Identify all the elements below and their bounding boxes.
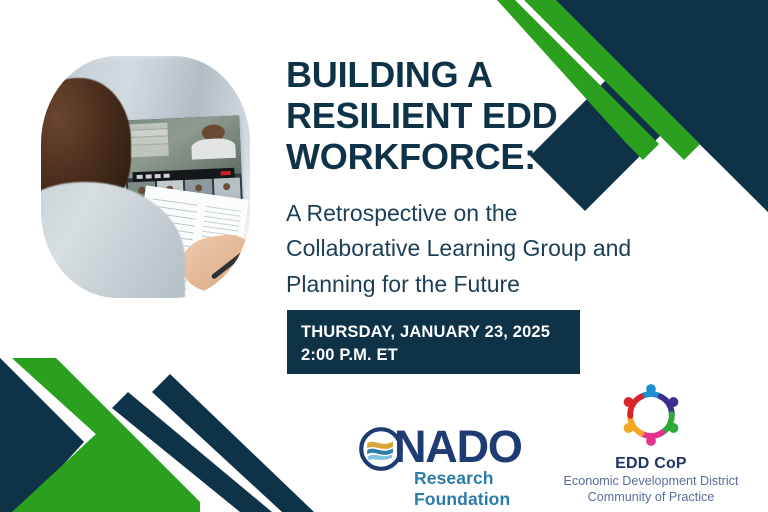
toolbar-button-icon bbox=[137, 175, 143, 179]
subtitle-line-3: Planning for the Future bbox=[286, 267, 706, 302]
toolbar-button-icon bbox=[163, 173, 169, 177]
edd-pinwheel-people-icon bbox=[609, 376, 693, 454]
edd-cop-title: EDD CoP bbox=[556, 455, 746, 473]
toolbar-button-icon bbox=[154, 174, 160, 178]
photo-scene bbox=[41, 56, 250, 298]
page-subtitle: A Retrospective on the Collaborative Lea… bbox=[286, 196, 706, 302]
nado-tagline: Research Foundation bbox=[414, 468, 558, 510]
navy-triangle-bottom-left bbox=[0, 360, 84, 512]
green-chevron-bottom-left bbox=[14, 360, 198, 512]
nado-wordmark: NADO bbox=[394, 424, 522, 469]
navy-triangle-body-bottom-left bbox=[0, 358, 84, 512]
title-line-2: RESILIENT EDD bbox=[286, 95, 706, 136]
subtitle-line-2: Collaborative Learning Group and bbox=[286, 231, 706, 266]
event-time: 2:00 P.M. ET bbox=[301, 344, 580, 367]
nado-logo: NADO Research Foundation bbox=[358, 424, 558, 492]
subtitle-line-1: A Retrospective on the bbox=[286, 196, 706, 231]
photo-bookcase bbox=[126, 122, 169, 158]
photo-speaker-torso bbox=[191, 138, 236, 160]
edd-cop-description: Economic Development District Community … bbox=[556, 474, 746, 505]
toolbar-button-icon bbox=[146, 174, 152, 178]
edd-cop-description-line-1: Economic Development District bbox=[556, 474, 746, 490]
navy-stripe-inner-bottom-left bbox=[112, 392, 272, 512]
record-indicator-icon bbox=[221, 171, 231, 175]
title-line-3: WORKFORCE: bbox=[286, 136, 706, 177]
hero-photo bbox=[41, 56, 250, 298]
navy-stripe-outer-bottom-left bbox=[152, 374, 314, 512]
green-chevron-fill-bottom-left bbox=[12, 358, 200, 512]
event-datetime-box: THURSDAY, JANUARY 23, 2025 2:00 P.M. ET bbox=[287, 310, 580, 374]
title-line-1: BUILDING A bbox=[286, 54, 706, 95]
edd-cop-logo: EDD CoP Economic Development District Co… bbox=[556, 376, 746, 505]
edd-cop-description-line-2: Community of Practice bbox=[556, 490, 746, 506]
event-date: THURSDAY, JANUARY 23, 2025 bbox=[301, 321, 580, 344]
page-title: BUILDING A RESILIENT EDD WORKFORCE: bbox=[286, 54, 706, 177]
navy-triangle-fill-bottom-left bbox=[0, 358, 84, 512]
flyer-canvas: BUILDING A RESILIENT EDD WORKFORCE: A Re… bbox=[0, 0, 768, 512]
